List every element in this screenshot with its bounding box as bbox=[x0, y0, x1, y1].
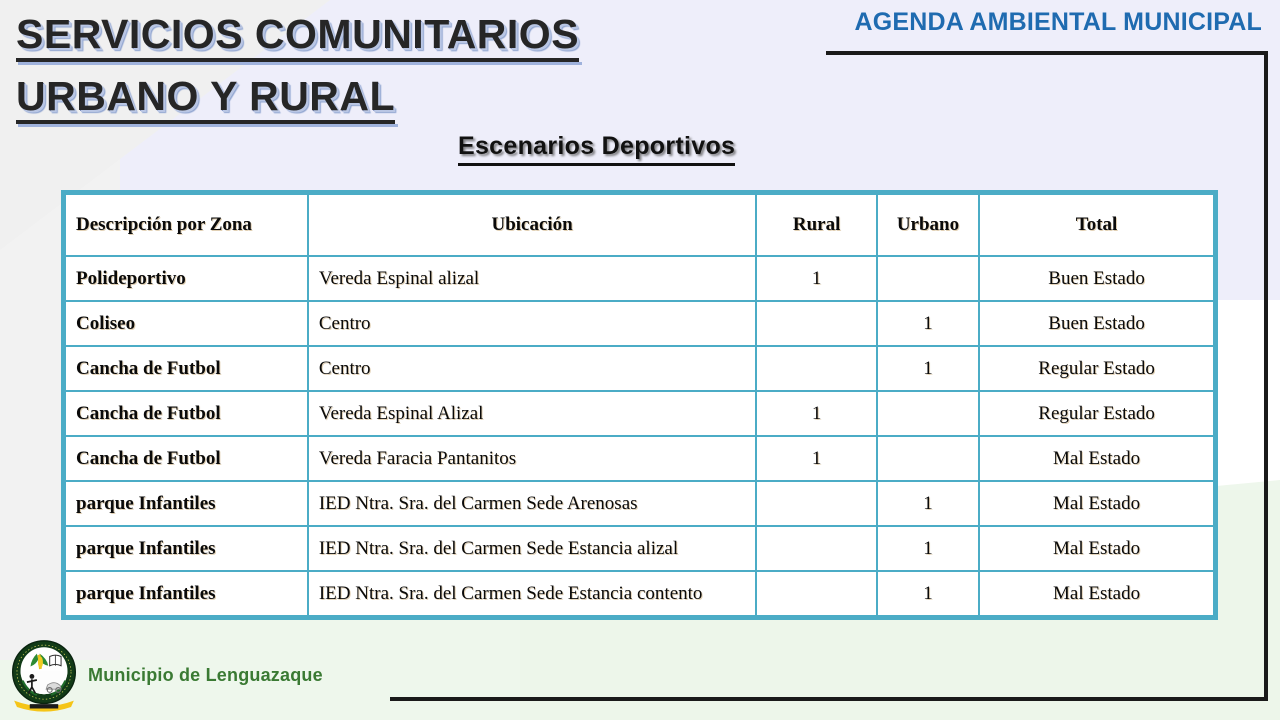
cell-ubicacion: Vereda Faracia Pantanitos bbox=[308, 436, 757, 481]
cell-urbano: 1 bbox=[877, 571, 979, 616]
cell-total: Mal Estado bbox=[979, 481, 1214, 526]
cell-descripcion: Cancha de Futbol bbox=[65, 346, 308, 391]
cell-rural bbox=[756, 571, 876, 616]
municipality-label: Municipio de Lenguazaque bbox=[88, 665, 323, 686]
sports-venues-table: Descripción por Zona Ubicación Rural Urb… bbox=[64, 193, 1215, 617]
table-row: parque InfantilesIED Ntra. Sra. del Carm… bbox=[65, 571, 1214, 616]
cell-total: Mal Estado bbox=[979, 436, 1214, 481]
cell-ubicacion: Centro bbox=[308, 301, 757, 346]
page-title-line-2: URBANO Y RURAL bbox=[16, 76, 395, 124]
section-subtitle: Escenarios Deportivos bbox=[458, 132, 735, 166]
cell-urbano: 1 bbox=[877, 346, 979, 391]
column-header-urbano: Urbano bbox=[877, 194, 979, 256]
cell-descripcion: parque Infantiles bbox=[65, 481, 308, 526]
page-title-line-1: SERVICIOS COMUNITARIOS bbox=[16, 14, 579, 62]
column-header-ubicacion: Ubicación bbox=[308, 194, 757, 256]
table-body: PolideportivoVereda Espinal alizal1Buen … bbox=[65, 256, 1214, 616]
table-row: PolideportivoVereda Espinal alizal1Buen … bbox=[65, 256, 1214, 301]
cell-urbano: 1 bbox=[877, 526, 979, 571]
cell-rural bbox=[756, 346, 876, 391]
cell-total: Buen Estado bbox=[979, 256, 1214, 301]
frame-right-rule bbox=[1264, 51, 1268, 701]
cell-urbano bbox=[877, 256, 979, 301]
sports-venues-table-container: Descripción por Zona Ubicación Rural Urb… bbox=[61, 190, 1218, 620]
cell-ubicacion: Vereda Espinal Alizal bbox=[308, 391, 757, 436]
table-row: Cancha de FutbolVereda Faracia Pantanito… bbox=[65, 436, 1214, 481]
frame-top-rule bbox=[826, 51, 1268, 55]
cell-urbano bbox=[877, 391, 979, 436]
coat-of-arms-icon bbox=[8, 638, 80, 712]
column-header-descripcion: Descripción por Zona bbox=[65, 194, 308, 256]
agenda-header-label: AGENDA AMBIENTAL MUNICIPAL bbox=[855, 8, 1263, 37]
cell-rural: 1 bbox=[756, 256, 876, 301]
cell-descripcion: Coliseo bbox=[65, 301, 308, 346]
cell-urbano bbox=[877, 436, 979, 481]
table-row: Cancha de FutbolCentro1Regular Estado bbox=[65, 346, 1214, 391]
frame-bottom-rule bbox=[390, 697, 1268, 701]
cell-ubicacion: IED Ntra. Sra. del Carmen Sede Arenosas bbox=[308, 481, 757, 526]
page-title-line-1-row: SERVICIOS COMUNITARIOS bbox=[16, 14, 579, 62]
cell-ubicacion: IED Ntra. Sra. del Carmen Sede Estancia … bbox=[308, 526, 757, 571]
cell-ubicacion: IED Ntra. Sra. del Carmen Sede Estancia … bbox=[308, 571, 757, 616]
page-title: SERVICIOS COMUNITARIOS URBANO Y RURAL bbox=[16, 14, 579, 138]
cell-urbano: 1 bbox=[877, 481, 979, 526]
cell-total: Regular Estado bbox=[979, 346, 1214, 391]
cell-total: Regular Estado bbox=[979, 391, 1214, 436]
table-header: Descripción por Zona Ubicación Rural Urb… bbox=[65, 194, 1214, 256]
cell-ubicacion: Centro bbox=[308, 346, 757, 391]
footer: Municipio de Lenguazaque bbox=[8, 638, 323, 712]
cell-urbano: 1 bbox=[877, 301, 979, 346]
cell-rural bbox=[756, 526, 876, 571]
cell-total: Mal Estado bbox=[979, 571, 1214, 616]
column-header-rural: Rural bbox=[756, 194, 876, 256]
cell-rural: 1 bbox=[756, 391, 876, 436]
cell-total: Mal Estado bbox=[979, 526, 1214, 571]
table-row: Cancha de FutbolVereda Espinal Alizal1Re… bbox=[65, 391, 1214, 436]
cell-descripcion: parque Infantiles bbox=[65, 526, 308, 571]
cell-descripcion: Cancha de Futbol bbox=[65, 436, 308, 481]
cell-descripcion: Cancha de Futbol bbox=[65, 391, 308, 436]
table-header-row: Descripción por Zona Ubicación Rural Urb… bbox=[65, 194, 1214, 256]
cell-descripcion: Polideportivo bbox=[65, 256, 308, 301]
cell-rural bbox=[756, 481, 876, 526]
table-row: parque InfantilesIED Ntra. Sra. del Carm… bbox=[65, 526, 1214, 571]
column-header-total: Total bbox=[979, 194, 1214, 256]
cell-ubicacion: Vereda Espinal alizal bbox=[308, 256, 757, 301]
cell-rural bbox=[756, 301, 876, 346]
table-row: ColiseoCentro1Buen Estado bbox=[65, 301, 1214, 346]
cell-descripcion: parque Infantiles bbox=[65, 571, 308, 616]
table-row: parque InfantilesIED Ntra. Sra. del Carm… bbox=[65, 481, 1214, 526]
page-title-line-2-row: URBANO Y RURAL bbox=[16, 76, 579, 124]
cell-total: Buen Estado bbox=[979, 301, 1214, 346]
cell-rural: 1 bbox=[756, 436, 876, 481]
